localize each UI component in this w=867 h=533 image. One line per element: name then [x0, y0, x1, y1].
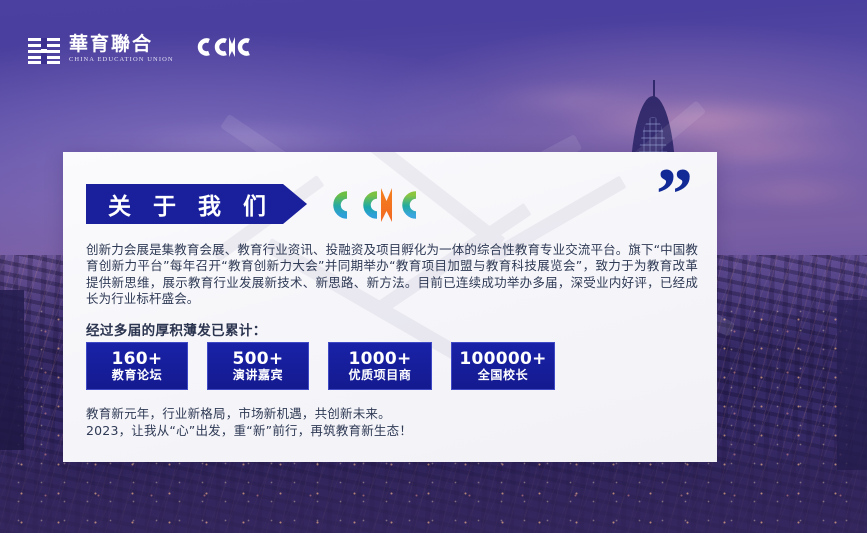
about-description: 创新力会展是集教育会展、教育行业资讯、投融资及项目孵化为一体的综合性教育专业交流…: [86, 242, 698, 307]
stats-heading: 经过多届的厚积薄发已累计：: [86, 319, 267, 339]
slide-root: 華育聯合 CHINA EDUCATION UNION ” 关 于 我: [0, 0, 867, 533]
stat-label: 演讲嘉宾: [233, 369, 283, 381]
union-mark-icon: [28, 38, 60, 64]
stat-card[interactable]: 1000+ 优质项目商: [328, 342, 432, 390]
stat-card[interactable]: 100000+ 全国校长: [451, 342, 555, 390]
ceic-wordmark-icon: [196, 34, 252, 60]
header-logo-group: 華育聯合 CHINA EDUCATION UNION: [28, 34, 252, 65]
about-us-banner: 关 于 我 们: [86, 184, 307, 224]
stat-number: 100000+: [459, 351, 546, 368]
stat-label: 教育论坛: [112, 369, 162, 381]
stat-card[interactable]: 500+ 演讲嘉宾: [207, 342, 309, 390]
stat-label: 优质项目商: [348, 369, 411, 381]
stat-number: 1000+: [348, 351, 411, 368]
ceic-logo-header: [196, 34, 252, 65]
stat-card[interactable]: 160+ 教育论坛: [86, 342, 188, 390]
closing-statement: 教育新元年，行业新格局，市场新机遇，共创新未来。 2023，让我从“心”出发，重…: [86, 406, 412, 439]
left-building-silhouette: [0, 290, 24, 450]
ceic-color-wordmark-icon: [325, 182, 421, 226]
china-education-union-logo: 華育聯合 CHINA EDUCATION UNION: [28, 35, 174, 64]
page-title: 关 于 我 们: [108, 187, 273, 221]
stat-label: 全国校长: [478, 369, 528, 381]
right-building-silhouette: [837, 300, 867, 470]
union-logo-text: 華育聯合 CHINA EDUCATION UNION: [69, 35, 174, 64]
closing-line: 2023，让我从“心”出发，重“新”前行，再筑教育新生态！: [86, 423, 412, 440]
stat-number: 500+: [233, 351, 284, 368]
closing-quote-icon: ”: [656, 158, 693, 232]
cloud-streak: [120, 130, 380, 152]
closing-line: 教育新元年，行业新格局，市场新机遇，共创新未来。: [86, 406, 412, 423]
about-us-card: ” 关 于 我 们: [63, 152, 717, 462]
stat-number: 160+: [112, 351, 163, 368]
cloud-streak: [560, 108, 860, 134]
stats-row: 160+ 教育论坛 500+ 演讲嘉宾 1000+ 优质项目商 100000+ …: [86, 342, 555, 390]
union-name-cn: 華育聯合: [69, 35, 174, 54]
card-title-row: 关 于 我 们: [86, 182, 421, 226]
ceic-logo-colored: [325, 182, 421, 226]
union-name-en: CHINA EDUCATION UNION: [69, 57, 174, 64]
